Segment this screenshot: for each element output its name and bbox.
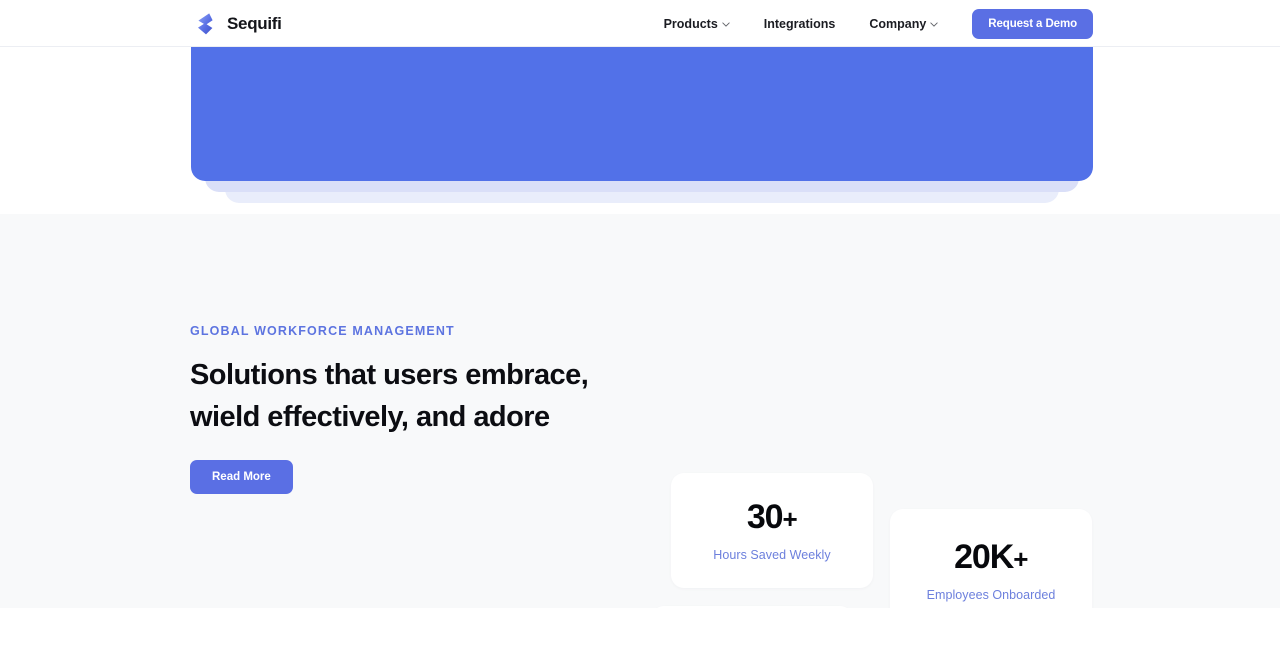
stats-section: GLOBAL WORKFORCE MANAGEMENT Solutions th… bbox=[0, 214, 1280, 608]
nav-item-products[interactable]: Products bbox=[647, 17, 747, 31]
stat-value: 20K + bbox=[954, 540, 1028, 574]
page-root: Sequifi, the ultimate HR DJ. bbox=[0, 0, 1280, 645]
stat-card-grid: 30 + Hours Saved Weekly 20K + Employees … bbox=[0, 214, 1280, 608]
chevron-down-icon bbox=[930, 22, 938, 27]
stat-number: 30 bbox=[747, 500, 783, 534]
stat-label: Employees Onboarded bbox=[927, 588, 1056, 602]
stat-suffix: + bbox=[782, 506, 797, 532]
main-navigation: Products Integrations Company Request a … bbox=[647, 0, 1093, 47]
stat-value: 30 + bbox=[747, 500, 797, 534]
nav-item-integrations[interactable]: Integrations bbox=[747, 17, 853, 31]
nav-item-label: Company bbox=[869, 17, 926, 31]
nav-item-company[interactable]: Company bbox=[852, 17, 955, 31]
stat-suffix: + bbox=[1013, 546, 1028, 572]
site-header: Sequifi Products Integrations Company bbox=[0, 0, 1280, 47]
stat-number: 20K bbox=[954, 540, 1013, 574]
page-bottom-spacer bbox=[0, 608, 1280, 645]
nav-item-label: Integrations bbox=[764, 17, 836, 31]
sequifi-bolt-logo-icon bbox=[192, 11, 218, 37]
request-demo-button[interactable]: Request a Demo bbox=[972, 9, 1093, 39]
stat-card: 30 + Hours Saved Weekly bbox=[671, 473, 873, 588]
brand-logo-link[interactable]: Sequifi bbox=[192, 0, 282, 47]
chevron-down-icon bbox=[722, 22, 730, 27]
brand-name: Sequifi bbox=[227, 14, 282, 34]
stat-label: Hours Saved Weekly bbox=[713, 548, 830, 562]
nav-item-label: Products bbox=[664, 17, 718, 31]
